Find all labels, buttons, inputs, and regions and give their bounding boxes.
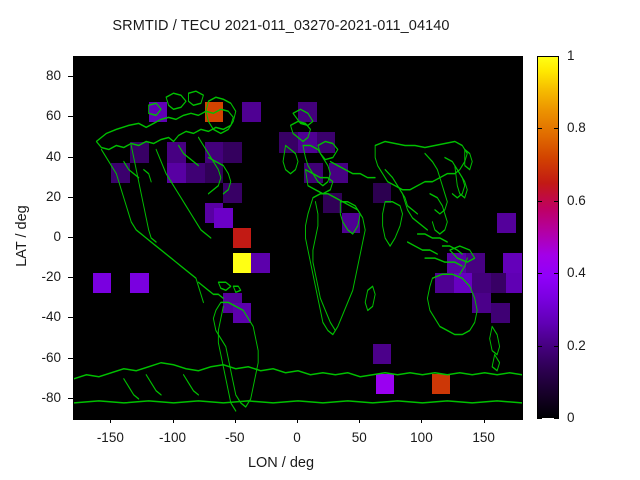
- y-tick-label: -40: [21, 309, 61, 324]
- x-tick-mark: [421, 418, 422, 423]
- y-tick-mark: [68, 358, 73, 359]
- y-tick-label: 80: [21, 68, 61, 83]
- colorbar-tick-mark: [537, 56, 542, 57]
- x-tick-label: 0: [267, 430, 327, 445]
- y-tick-mark: [68, 398, 73, 399]
- y-tick-label: 40: [21, 149, 61, 164]
- x-tick-label: -150: [80, 430, 140, 445]
- colorbar[interactable]: [537, 56, 559, 418]
- x-tick-mark: [235, 418, 236, 423]
- colorbar-tick-mark: [554, 346, 559, 347]
- coastline-layer: [74, 57, 522, 419]
- x-tick-mark: [297, 418, 298, 423]
- colorbar-tick-mark: [537, 273, 542, 274]
- y-tick-mark: [68, 157, 73, 158]
- colorbar-tick-label: 0.2: [567, 338, 586, 353]
- colorbar-tick-mark: [537, 418, 542, 419]
- colorbar-tick-mark: [537, 346, 542, 347]
- x-tick-label: 150: [454, 430, 514, 445]
- x-tick-mark: [484, 418, 485, 423]
- colorbar-tick-label: 0.8: [567, 120, 586, 135]
- y-tick-label: 60: [21, 108, 61, 123]
- y-tick-mark: [68, 197, 73, 198]
- colorbar-tick-label: 0.6: [567, 193, 586, 208]
- colorbar-tick-mark: [554, 56, 559, 57]
- x-tick-mark: [110, 418, 111, 423]
- y-axis-title: LAT / deg: [14, 176, 30, 296]
- y-tick-mark: [68, 76, 73, 77]
- map-plot-area[interactable]: [73, 56, 523, 420]
- coastline-svg: [74, 57, 522, 419]
- y-tick-label: -60: [21, 350, 61, 365]
- y-tick-label: -80: [21, 390, 61, 405]
- x-tick-label: 50: [329, 430, 389, 445]
- page-title: SRMTID / TECU 2021-011_03270-2021-011_04…: [0, 18, 562, 34]
- x-tick-mark: [359, 418, 360, 423]
- colorbar-gradient: [537, 56, 559, 418]
- colorbar-tick-mark: [537, 201, 542, 202]
- y-tick-mark: [68, 317, 73, 318]
- colorbar-tick-mark: [537, 128, 542, 129]
- y-tick-mark: [68, 277, 73, 278]
- colorbar-tick-mark: [554, 273, 559, 274]
- x-tick-mark: [173, 418, 174, 423]
- x-tick-label: -50: [205, 430, 265, 445]
- colorbar-tick-mark: [554, 418, 559, 419]
- x-tick-label: 100: [391, 430, 451, 445]
- figure-root: SRMTID / TECU 2021-011_03270-2021-011_04…: [0, 0, 640, 480]
- y-tick-mark: [68, 116, 73, 117]
- x-axis-title: LON / deg: [0, 455, 562, 471]
- colorbar-tick-mark: [554, 201, 559, 202]
- colorbar-tick-mark: [554, 128, 559, 129]
- colorbar-tick-label: 0: [567, 410, 575, 425]
- colorbar-tick-label: 0.4: [567, 265, 586, 280]
- x-tick-label: -100: [143, 430, 203, 445]
- y-tick-mark: [68, 237, 73, 238]
- colorbar-tick-label: 1: [567, 48, 575, 63]
